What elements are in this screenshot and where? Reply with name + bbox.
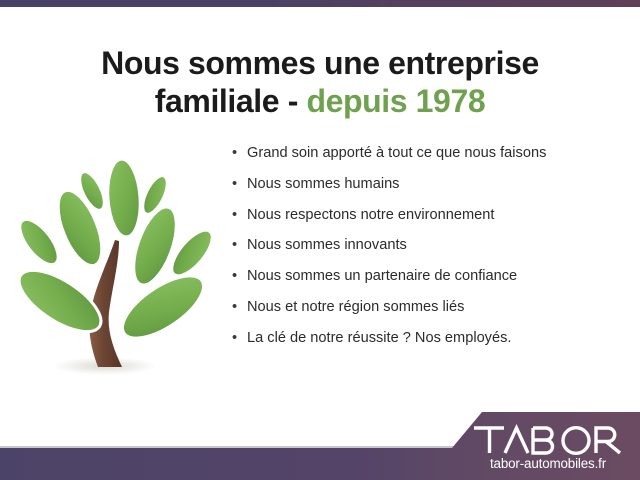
value-list: • Grand soin apporté à tout ce que nous …	[230, 146, 630, 362]
brand-logo[interactable]: tabor-automobiles.fr	[468, 424, 628, 471]
list-item: • Nous respectons notre environnement	[230, 208, 630, 223]
list-item-label: Nous et notre région sommes liés	[247, 299, 464, 315]
leaf-top-center	[105, 158, 142, 238]
list-item-label: Nous sommes innovants	[247, 237, 407, 253]
list-item: • La clé de notre réussite ? Nos employé…	[230, 331, 630, 346]
top-accent-strip	[0, 0, 640, 7]
list-item: • Nous et notre région sommes liés	[230, 300, 630, 315]
page-title-line-1: Nous sommes une entreprise	[0, 45, 640, 83]
page-title-line-2-prefix: familiale -	[155, 83, 307, 119]
list-item: • Nous sommes humains	[230, 177, 630, 192]
bullet-icon: •	[232, 177, 237, 192]
page-title-line-2: familiale - depuis 1978	[0, 83, 640, 121]
list-item-label: Nous sommes humains	[247, 176, 399, 192]
list-item-label: Grand soin apporté à tout ce que nous fa…	[247, 145, 546, 161]
list-item: • Nous sommes un partenaire de confiance	[230, 269, 630, 284]
bullet-icon: •	[232, 331, 237, 346]
list-item-label: Nous respectons notre environnement	[247, 207, 494, 223]
logo-tagline: tabor-automobiles.fr	[468, 456, 628, 471]
list-item: • Nous sommes innovants	[230, 238, 630, 253]
footer: tabor-automobiles.fr	[0, 400, 640, 480]
page-title-accent: depuis 1978	[306, 83, 485, 119]
bullet-icon: •	[232, 269, 237, 284]
bullet-icon: •	[232, 238, 237, 253]
slide-root: Nous sommes une entreprise familiale - d…	[0, 0, 640, 480]
logo-wordmark-tabor	[474, 428, 620, 454]
page-title: Nous sommes une entreprise familiale - d…	[0, 45, 640, 121]
leaf-left-outer	[13, 213, 65, 270]
list-item-label: Nous sommes un partenaire de confiance	[247, 268, 517, 284]
bullet-icon: •	[232, 300, 237, 315]
leaf-right-lower	[113, 264, 213, 350]
list-item-label: La clé de notre réussite ? Nos employés.	[247, 330, 511, 346]
bullet-icon: •	[232, 146, 237, 161]
tree-illustration	[12, 143, 217, 388]
bullet-icon: •	[232, 208, 237, 223]
list-item: • Grand soin apporté à tout ce que nous …	[230, 146, 630, 161]
